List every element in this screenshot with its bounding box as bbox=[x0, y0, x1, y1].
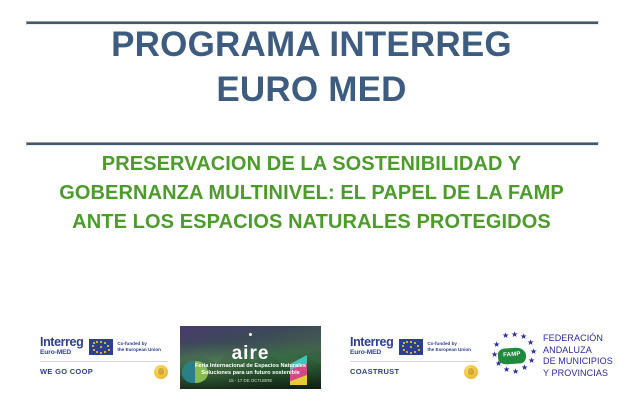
project-name-label: WE GO COOP bbox=[40, 367, 93, 376]
logo-famp: ★ ★ ★ ★ ★ ★ ★ ★ ★ ★ ★ ★ FAMP FEDERACIÓN … bbox=[487, 328, 617, 384]
eu-funding-line-1: Co-funded by bbox=[427, 341, 457, 346]
aire-tagline-1: Feria Internacional de Espacios Naturale… bbox=[180, 363, 321, 370]
interreg-brand-label: Interreg bbox=[40, 336, 83, 349]
interreg-programme-label: Euro-MED bbox=[350, 350, 393, 357]
project-name-label: COASTRUST bbox=[350, 367, 399, 376]
euro-coin-icon bbox=[464, 365, 478, 379]
subtitle-line-1: PRESERVACION DE LA SOSTENIBILIDAD Y bbox=[0, 150, 623, 179]
interreg-brand-label: Interreg bbox=[350, 336, 393, 349]
eu-funding-text: Co-funded by the European Union bbox=[427, 341, 471, 353]
interreg-programme-label: Euro-MED bbox=[40, 350, 83, 357]
eu-funding-line-2: the European Union bbox=[427, 347, 471, 352]
logo-aire: aire Feria Internacional de Espacios Nat… bbox=[180, 326, 321, 389]
page-subtitle: PRESERVACION DE LA SOSTENIBILIDAD Y GOBE… bbox=[0, 150, 623, 237]
eu-flag-icon bbox=[399, 339, 423, 355]
title-line-2: EURO MED bbox=[0, 67, 623, 112]
logo-interreg-coastrust: Interreg Euro-MED bbox=[343, 331, 485, 383]
euro-coin-icon bbox=[154, 365, 168, 379]
andalusia-shape: FAMP bbox=[497, 347, 526, 365]
eu-funding-line-2: the European Union bbox=[117, 347, 161, 352]
famp-name-line-1: FEDERACIÓN bbox=[543, 333, 613, 345]
eu-funding-block: Co-funded by the European Union bbox=[89, 339, 161, 355]
eu-funding-line-1: Co-funded by bbox=[117, 341, 147, 346]
famp-name-line-4: Y PROVINCIAS bbox=[543, 368, 613, 380]
famp-emblem-icon: ★ ★ ★ ★ ★ ★ ★ ★ ★ ★ ★ ★ FAMP bbox=[487, 331, 537, 381]
eu-funding-block: Co-funded by the European Union bbox=[399, 339, 471, 355]
interreg-footer: COASTRUST bbox=[350, 362, 478, 381]
aire-tagline-3: 15 - 17 DE OCTUBRE bbox=[180, 377, 321, 385]
famp-name-line-2: ANDALUZA bbox=[543, 345, 613, 357]
aire-text-block: aire Feria Internacional de Espacios Nat… bbox=[180, 344, 321, 385]
famp-name-block: FEDERACIÓN ANDALUZA DE MUNICIPIOS Y PROV… bbox=[543, 333, 613, 379]
interreg-header: Interreg Euro-MED bbox=[40, 336, 168, 357]
title-line-1: PROGRAMA INTERREG bbox=[0, 22, 623, 67]
presentation-slide: PROGRAMA INTERREG EURO MED PRESERVACION … bbox=[0, 0, 623, 409]
page-title: PROGRAMA INTERREG EURO MED bbox=[0, 22, 623, 112]
subtitle-line-2: GOBERNANZA MULTINIVEL: EL PAPEL DE LA FA… bbox=[0, 179, 623, 208]
aire-dot-icon bbox=[249, 333, 252, 336]
eu-flag-icon bbox=[89, 339, 113, 355]
subtitle-line-3: ANTE LOS ESPACIOS NATURALES PROTEGIDOS bbox=[0, 208, 623, 237]
eu-funding-text: Co-funded by the European Union bbox=[117, 341, 161, 353]
interreg-header: Interreg Euro-MED bbox=[350, 336, 478, 357]
aire-wordmark: aire bbox=[180, 344, 321, 363]
interreg-footer: WE GO COOP bbox=[40, 362, 168, 381]
logo-strip: Interreg Euro-MED bbox=[0, 322, 623, 392]
aire-tagline-2: Soluciones para un futuro sostenible bbox=[180, 370, 321, 377]
famp-emblem-label: FAMP bbox=[498, 351, 526, 359]
interreg-wordmark: Interreg Euro-MED bbox=[350, 336, 393, 356]
logo-interreg-we-go-coop: Interreg Euro-MED bbox=[33, 331, 175, 383]
famp-name-line-3: DE MUNICIPIOS bbox=[543, 356, 613, 368]
divider-bottom bbox=[26, 142, 599, 146]
interreg-wordmark: Interreg Euro-MED bbox=[40, 336, 83, 356]
